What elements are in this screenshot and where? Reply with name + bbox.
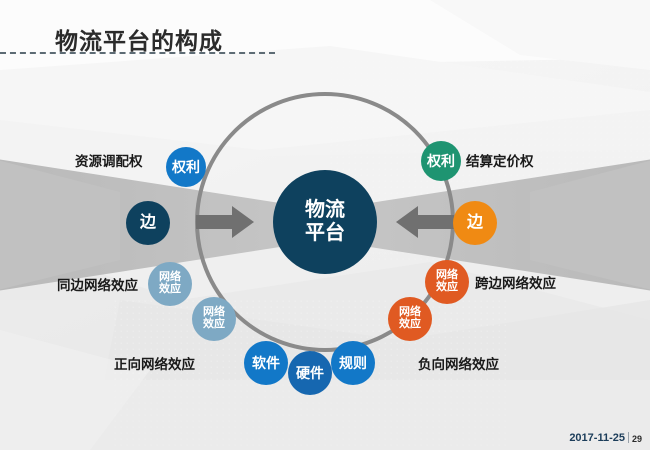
node-rules-label: 规则 [339, 356, 367, 370]
center-node-line2: 平台 [305, 222, 345, 245]
node-left-quanli-label: 权利 [172, 160, 200, 174]
caption-settlement-pricing-right: 结算定价权 [466, 150, 534, 170]
caption-cross-side-network-effect: 跨边网络效应 [475, 272, 556, 292]
page-title: 物流平台的构成 [55, 22, 223, 56]
node-negative-line2: 效应 [399, 319, 421, 331]
node-right-quanli-label: 权利 [427, 154, 455, 168]
caption-same-side-network-effect: 同边网络效应 [57, 274, 138, 294]
node-cross-side-line2: 效应 [436, 282, 458, 294]
node-right-bian[interactable]: 边 [453, 201, 497, 245]
node-positive-network-effect[interactable]: 网络 效应 [192, 297, 236, 341]
node-negative-network-effect[interactable]: 网络 效应 [388, 297, 432, 341]
node-left-bian[interactable]: 边 [126, 201, 170, 245]
center-node-logistics-platform[interactable]: 物流 平台 [273, 170, 377, 274]
node-software[interactable]: 软件 [244, 341, 288, 385]
node-hardware-label: 硬件 [296, 366, 324, 380]
footer-divider [628, 432, 629, 443]
slide-footer: 2017-11-25 29 [569, 432, 642, 444]
caption-positive-network-effect: 正向网络效应 [114, 353, 195, 373]
node-left-bian-label: 边 [140, 215, 156, 231]
slide-title-area: 物流平台的构成 [0, 22, 650, 62]
caption-resource-allocation-right: 资源调配权 [75, 150, 143, 170]
node-same-side-network-effect[interactable]: 网络 效应 [148, 262, 192, 306]
node-cross-side-network-effect[interactable]: 网络 效应 [425, 260, 469, 304]
platform-composition-diagram: 物流 平台 权利 边 资源调配权 权利 边 结算定价权 网络 效应 [0, 60, 650, 400]
node-hardware[interactable]: 硬件 [288, 351, 332, 395]
footer-date: 2017-11-25 [569, 432, 625, 444]
node-left-quanli[interactable]: 权利 [166, 147, 206, 187]
node-right-bian-label: 边 [467, 215, 483, 231]
center-node-line1: 物流 [305, 199, 345, 222]
node-positive-line2: 效应 [203, 319, 225, 331]
node-same-side-line2: 效应 [159, 284, 181, 296]
node-rules[interactable]: 规则 [331, 341, 375, 385]
node-right-quanli[interactable]: 权利 [421, 141, 461, 181]
footer-page-number: 29 [632, 434, 642, 444]
node-software-label: 软件 [252, 356, 280, 370]
slide-canvas: 物流平台的构成 [0, 0, 650, 450]
caption-negative-network-effect: 负向网络效应 [418, 353, 499, 373]
